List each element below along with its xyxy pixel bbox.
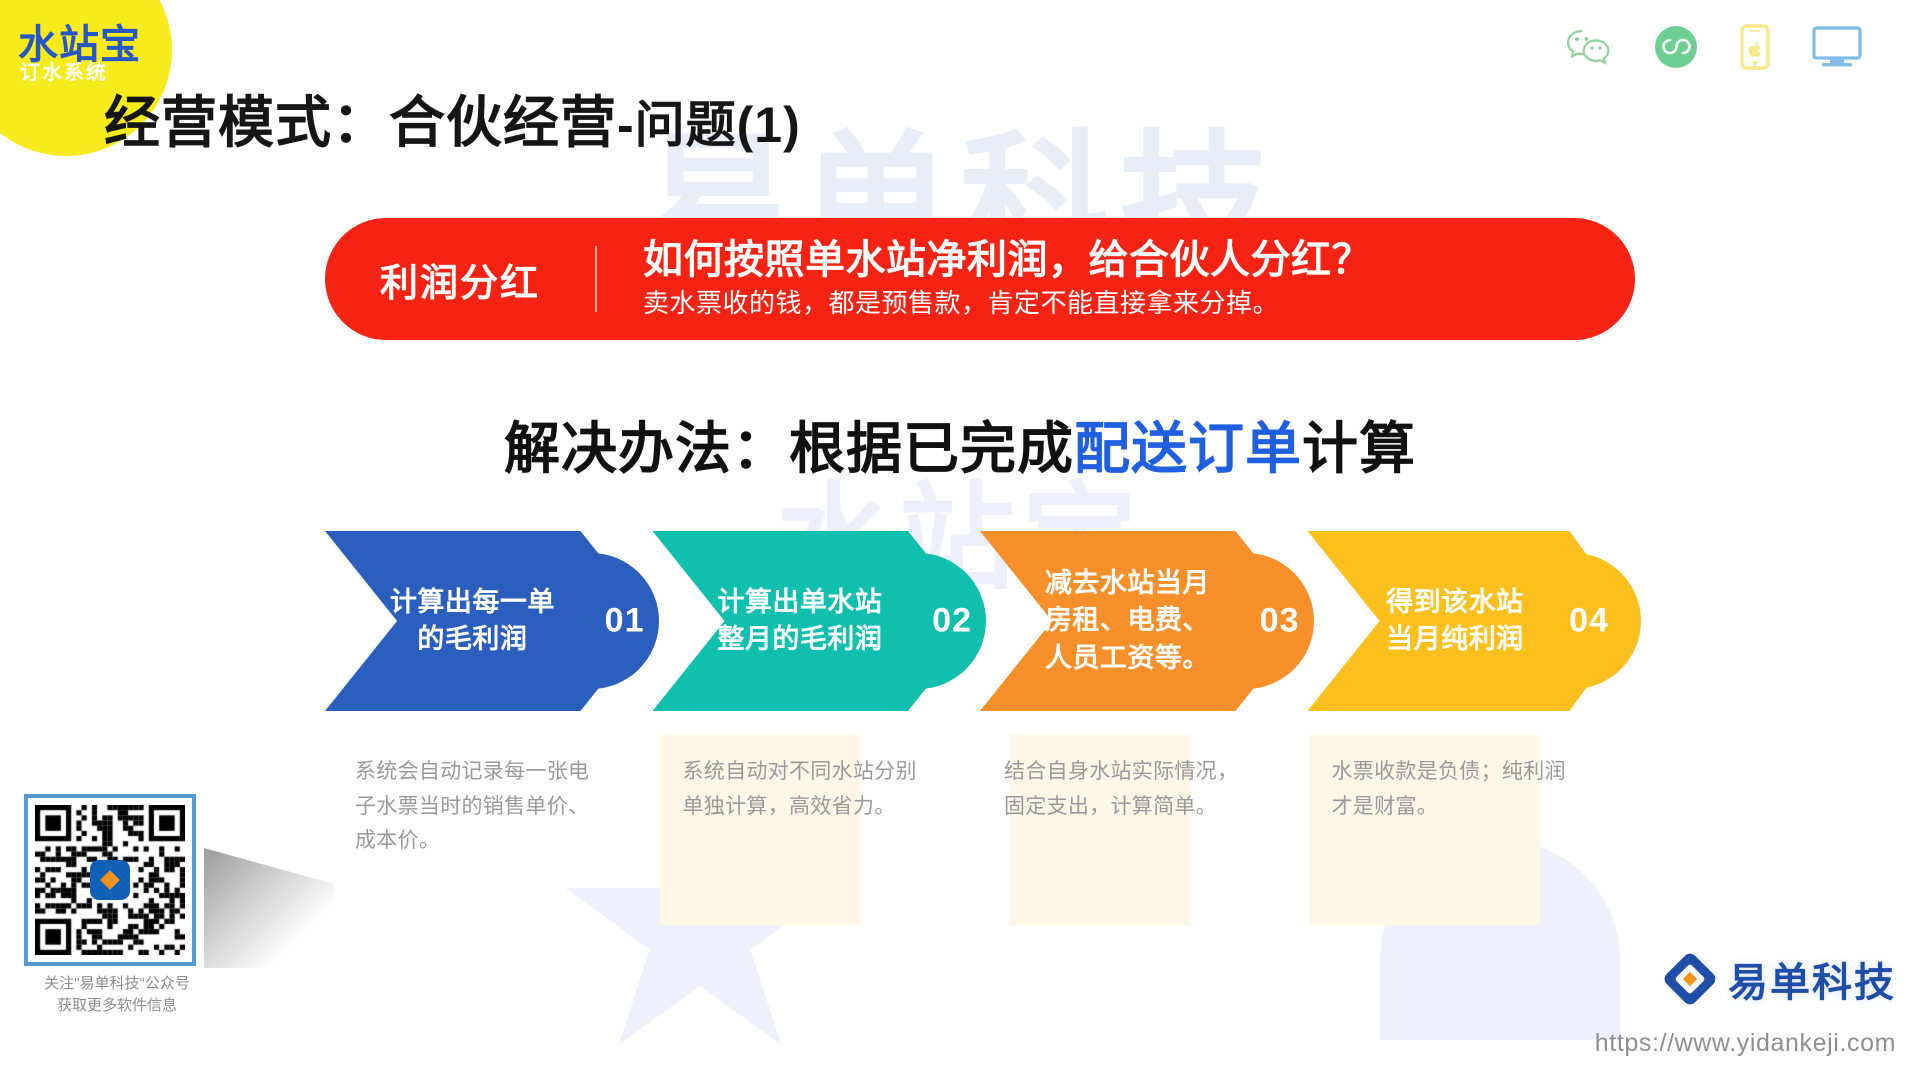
step-item-4[interactable]: 得到该水站 当月纯利润 04	[1308, 531, 1636, 711]
step-number-4: 04	[1569, 602, 1609, 641]
logo-subtitle: 订水系统	[20, 56, 108, 85]
step-item-3[interactable]: 减去水站当月 房租、电费、 人员工资等。 03	[980, 531, 1308, 711]
profit-dividend-banner: 利润分红 如何按照单水站净利润，给合伙人分红？ 卖水票收的钱，都是预售款，肯定不…	[325, 218, 1635, 340]
step-description-3: 结合自身水站实际情况，固定支出，计算简单。	[986, 755, 1308, 859]
slide-root: 易单科技 水站宝 水站宝 订水系统 经营模式：合伙经营-问题(1)	[0, 0, 1920, 1080]
page-title-suffix: -问题(1)	[617, 97, 801, 153]
step-line-4b: 当月纯利润	[1353, 621, 1556, 658]
banner-body: 如何按照单水站净利润，给合伙人分红？ 卖水票收的钱，都是预售款，肯定不能直接拿来…	[597, 237, 1372, 321]
watermark-blob-shape	[1380, 840, 1620, 1040]
qr-caption-line1: 关注"易单科技"公众号	[24, 973, 210, 995]
qr-shadow	[204, 848, 334, 968]
step-line-3c: 人员工资等。	[1026, 640, 1229, 677]
step-line-3b: 房租、电费、	[1026, 602, 1229, 639]
step-text-3: 减去水站当月 房租、电费、 人员工资等。	[1026, 565, 1229, 677]
page-title-main: 经营模式：合伙经营	[104, 91, 617, 154]
step-text-4: 得到该水站 当月纯利润	[1353, 584, 1556, 659]
step-line-2b: 整月的毛利润	[698, 621, 901, 658]
solution-suffix: 计算	[1302, 417, 1416, 480]
step-description-row: 系统会自动记录每一张电子水票当时的销售单价、成本价。 系统自动对不同水站分别单独…	[325, 755, 1635, 859]
step-line-3a: 减去水站当月	[1026, 565, 1229, 602]
step-number-3: 03	[1260, 602, 1300, 641]
step-description-2: 系统自动对不同水站分别单独计算，高效省力。	[659, 755, 987, 859]
step-description-1: 系统会自动记录每一张电子水票当时的销售单价、成本价。	[325, 755, 659, 859]
brand-name: 易单科技	[1728, 950, 1896, 1008]
qr-caption-line2: 获取更多软件信息	[24, 995, 210, 1017]
solution-heading: 解决办法：根据已完成配送订单计算	[0, 404, 1920, 485]
mini-program-icon[interactable]	[1654, 25, 1698, 69]
qr-logo-diamond	[100, 870, 120, 890]
page-title: 经营模式：合伙经营-问题(1)	[104, 78, 801, 159]
banner-question: 如何按照单水站净利润，给合伙人分红？	[643, 237, 1372, 283]
banner-note: 卖水票收的钱，都是预售款，肯定不能直接拿来分掉。	[643, 287, 1372, 321]
qr-caption: 关注"易单科技"公众号 获取更多软件信息	[24, 973, 210, 1017]
wechat-icon[interactable]	[1566, 28, 1612, 66]
brand-diamond-icon	[1664, 953, 1716, 1005]
step-description-4: 水票收款是负债；纯利润才是财富。	[1308, 755, 1636, 859]
step-number-1: 01	[605, 602, 645, 641]
step-line-2a: 计算出单水站	[698, 584, 901, 621]
banner-tag-label: 利润分红	[325, 252, 595, 307]
iphone-icon[interactable]	[1740, 24, 1770, 70]
qr-code-block: 关注"易单科技"公众号 获取更多软件信息	[24, 794, 210, 1017]
step-item-2[interactable]: 计算出单水站 整月的毛利润 02	[653, 531, 981, 711]
solution-prefix: 解决办法：根据已完成	[504, 417, 1074, 480]
brand-url: https://www.yidankeji.com	[1595, 1029, 1896, 1058]
step-line-1b: 的毛利润	[371, 621, 574, 658]
solution-highlight: 配送订单	[1074, 417, 1302, 480]
step-flow: 计算出每一单 的毛利润 01 计算出单水站 整月的毛利润 02 减去水站当月 房…	[325, 531, 1635, 711]
desktop-icon[interactable]	[1812, 26, 1862, 68]
qr-center-logo	[90, 860, 130, 900]
step-number-2: 02	[932, 602, 972, 641]
qr-code-image[interactable]	[24, 794, 196, 966]
step-text-1: 计算出每一单 的毛利润	[371, 584, 574, 659]
step-item-1[interactable]: 计算出每一单 的毛利润 01	[325, 531, 653, 711]
step-text-2: 计算出单水站 整月的毛利润	[698, 584, 901, 659]
platform-icon-group	[1566, 24, 1862, 70]
step-line-1a: 计算出每一单	[371, 584, 574, 621]
step-line-4a: 得到该水站	[1353, 584, 1556, 621]
brand-logo-block: 易单科技	[1664, 950, 1896, 1008]
